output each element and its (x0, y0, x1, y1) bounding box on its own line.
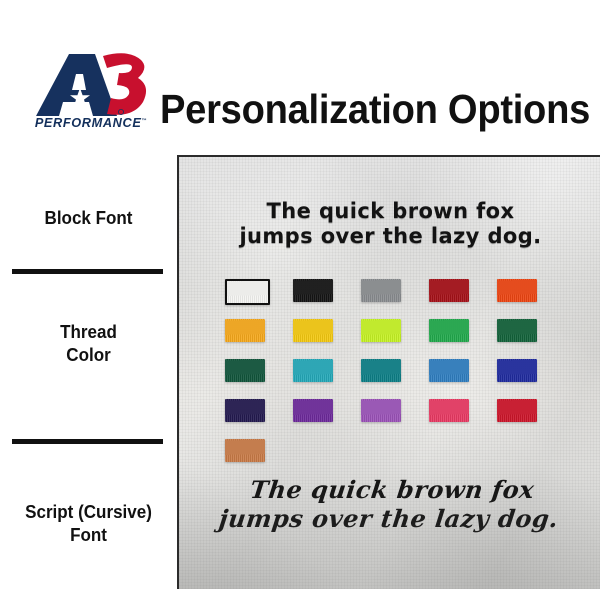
swatch-cell (429, 279, 497, 319)
swatch-cell (361, 359, 429, 399)
divider-line-2 (12, 439, 163, 444)
swatch-pink[interactable] (429, 399, 469, 422)
trademark-symbol: ™ (141, 118, 147, 124)
swatch-royal-blue[interactable] (497, 359, 537, 382)
swatch-orange-red[interactable] (497, 279, 537, 302)
label-script-font-line2: Font (7, 523, 170, 546)
swatch-row (225, 359, 565, 399)
swatch-dark-green[interactable] (225, 359, 265, 382)
swatch-dark-red[interactable] (429, 279, 469, 302)
label-script-font: Script (Cursive) Font (7, 500, 170, 546)
swatch-row (225, 279, 565, 319)
swatch-row (225, 319, 565, 359)
label-block-font: Block Font (7, 206, 170, 229)
swatch-cell (497, 359, 565, 399)
swatch-cell (497, 279, 565, 319)
swatch-green[interactable] (429, 319, 469, 342)
swatch-cell (429, 439, 497, 479)
swatch-empty (293, 439, 333, 462)
page-title: Personalization Options (160, 86, 590, 132)
swatch-orchid[interactable] (361, 399, 401, 422)
swatch-row (225, 399, 565, 439)
swatch-golden-yellow[interactable] (293, 319, 333, 342)
a3-performance-logo[interactable]: PERFORMANCE™ (33, 52, 149, 138)
swatch-cell (497, 439, 565, 479)
swatch-cell (225, 319, 293, 359)
swatch-cell (497, 399, 565, 439)
swatch-cell (361, 439, 429, 479)
swatch-empty (429, 439, 469, 462)
swatch-cell (225, 359, 293, 399)
a3-logo-svg (33, 52, 149, 118)
swatch-red[interactable] (497, 399, 537, 422)
script-font-sample-text: The quick brown fox jumps over the lazy … (177, 475, 600, 533)
swatch-cell (361, 279, 429, 319)
swatch-white[interactable] (225, 279, 270, 305)
label-thread-color-line1: Thread (7, 320, 170, 343)
swatch-turquoise[interactable] (293, 359, 333, 382)
swatch-cell (497, 319, 565, 359)
swatch-cell (293, 279, 361, 319)
script-font-sample-line1: The quick brown fox (179, 475, 600, 504)
swatch-empty (497, 439, 537, 462)
personalization-options-page: PERFORMANCE™ Personalization Options Blo… (0, 0, 600, 600)
a3-logo-wordmark: PERFORMANCE™ (34, 116, 148, 130)
thread-color-swatch-grid (225, 279, 565, 479)
label-script-font-line1: Script (Cursive) (7, 500, 170, 523)
block-font-sample-line2: jumps over the lazy dog. (179, 224, 600, 249)
swatch-cell (293, 439, 361, 479)
page-header: PERFORMANCE™ Personalization Options (0, 0, 600, 152)
swatch-gray[interactable] (361, 279, 401, 302)
embroidery-sample-photo: The quick brown fox jumps over the lazy … (177, 155, 600, 589)
swatch-cell (293, 399, 361, 439)
swatch-lime[interactable] (361, 319, 401, 342)
swatch-cell (429, 399, 497, 439)
swatch-cell (293, 359, 361, 399)
swatch-medium-blue[interactable] (429, 359, 469, 382)
swatch-cell (225, 399, 293, 439)
block-font-sample-line1: The quick brown fox (179, 199, 600, 224)
swatch-row (225, 439, 565, 479)
block-font-sample-text: The quick brown fox jumps over the lazy … (179, 199, 600, 249)
swatch-cell (225, 279, 293, 319)
swatch-cell (225, 439, 293, 479)
swatch-forest-green[interactable] (497, 319, 537, 342)
a3-logo-mark (33, 52, 149, 118)
swatch-cell (429, 359, 497, 399)
label-thread-color-line2: Color (7, 343, 170, 366)
divider-line-1 (12, 269, 163, 274)
swatch-copper[interactable] (225, 439, 265, 462)
swatch-navy[interactable] (225, 399, 265, 422)
swatch-cell (429, 319, 497, 359)
script-font-sample-line2: jumps over the lazy dog. (177, 504, 600, 533)
swatch-purple[interactable] (293, 399, 333, 422)
swatch-cell (361, 319, 429, 359)
swatch-empty (361, 439, 401, 462)
label-column: Block Font Thread Color Script (Cursive)… (0, 152, 177, 600)
swatch-black[interactable] (293, 279, 333, 302)
label-thread-color: Thread Color (7, 320, 170, 366)
swatch-cell (293, 319, 361, 359)
swatch-orange[interactable] (225, 319, 265, 342)
swatch-teal[interactable] (361, 359, 401, 382)
logo-wordmark-text: PERFORMANCE (35, 116, 142, 130)
swatch-cell (361, 399, 429, 439)
